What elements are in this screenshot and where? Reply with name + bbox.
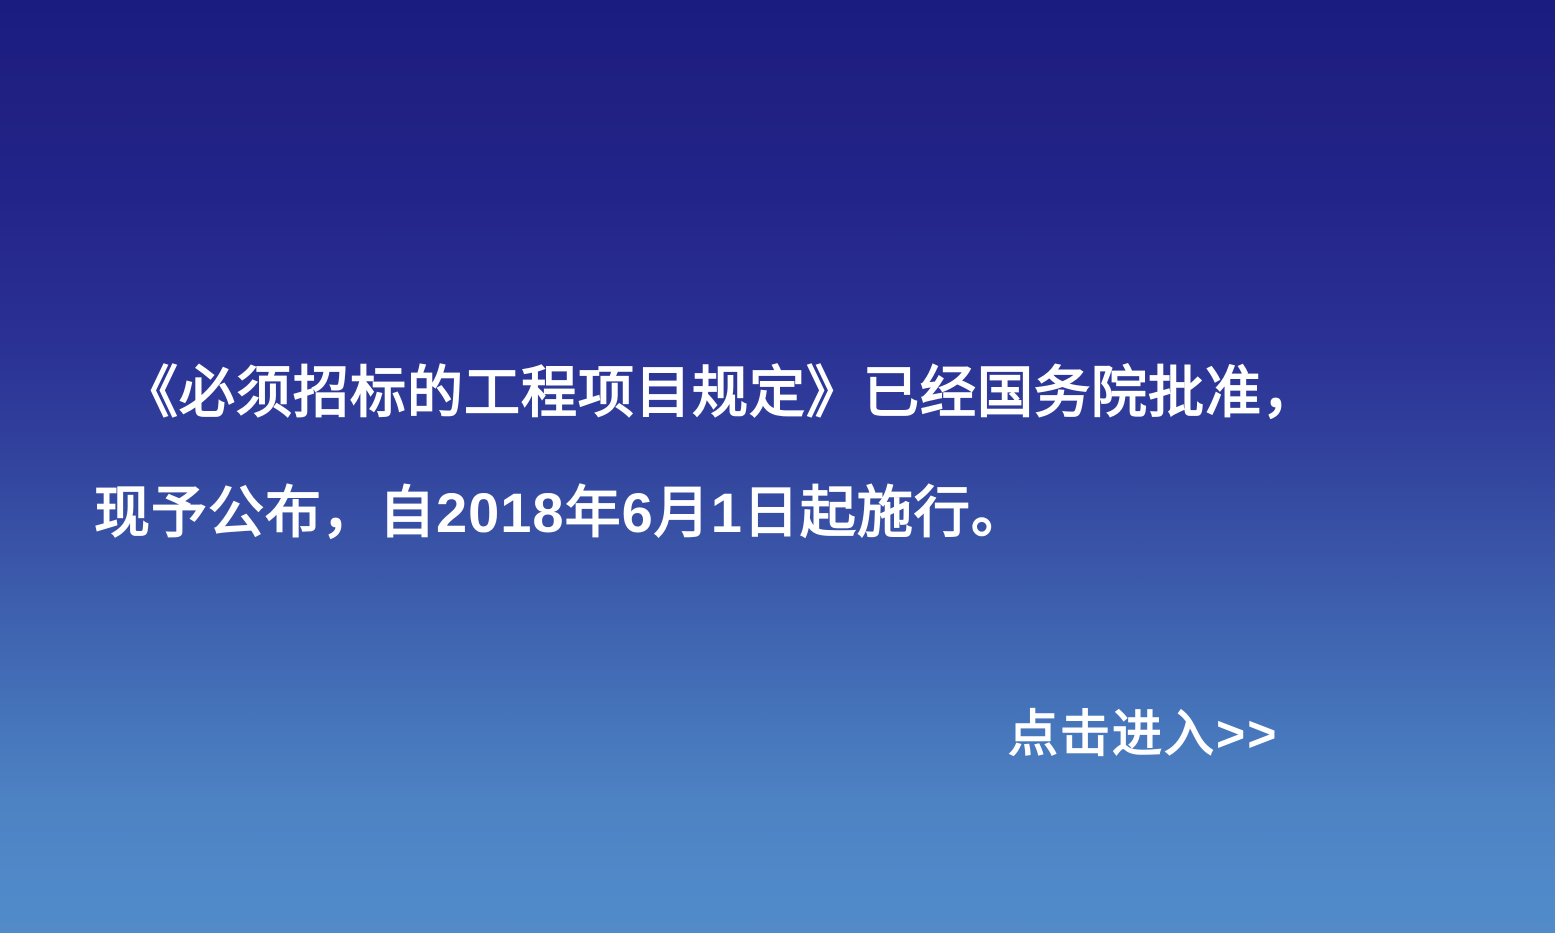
enter-link[interactable]: 点击进入>>: [1008, 686, 1278, 782]
headline-block: 《必须招标的工程项目规定》已经国务院批准， 现予公布，自2018年6月1日起施行…: [0, 333, 1555, 573]
cta-row: 点击进入>>: [0, 686, 1555, 782]
headline-line-2: 现予公布，自2018年6月1日起施行。: [0, 453, 1555, 573]
promo-banner: 《必须招标的工程项目规定》已经国务院批准， 现予公布，自2018年6月1日起施行…: [0, 0, 1555, 933]
headline-line-1: 《必须招标的工程项目规定》已经国务院批准，: [0, 333, 1555, 453]
